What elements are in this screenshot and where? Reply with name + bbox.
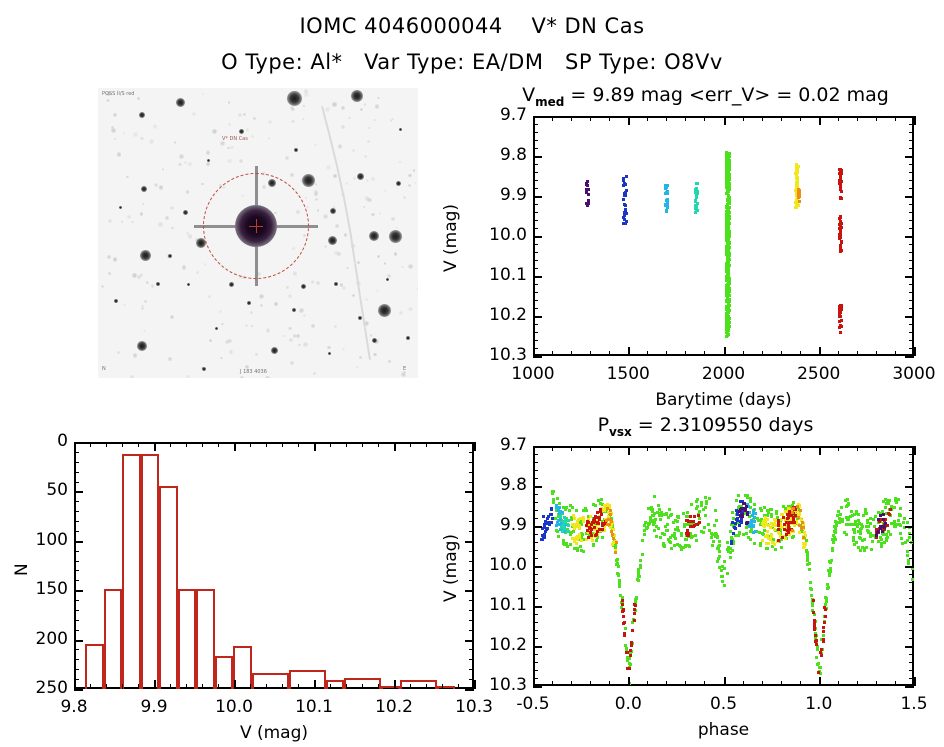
lightcurve-data-point bbox=[694, 200, 697, 203]
phaseplot-data-point bbox=[688, 545, 691, 548]
lightcurve-data-point bbox=[694, 191, 697, 194]
lightcurve-tick bbox=[666, 351, 667, 356]
histogram-tick bbox=[362, 442, 363, 447]
background-noise-speck bbox=[401, 372, 406, 377]
background-noise-speck bbox=[153, 124, 157, 128]
lightcurve-data-point bbox=[666, 206, 669, 209]
histogram-tick bbox=[106, 684, 107, 689]
phaseplot-data-point bbox=[573, 547, 576, 550]
background-noise-speck bbox=[364, 155, 367, 158]
phaseplot-data-point bbox=[615, 541, 618, 544]
background-noise-speck bbox=[314, 144, 316, 146]
finder-north-label: N bbox=[102, 366, 106, 372]
histogram-tick bbox=[469, 462, 474, 463]
phaseplot-data-point bbox=[693, 515, 696, 518]
phaseplot-data-point bbox=[606, 523, 609, 526]
histogram-tick bbox=[74, 491, 83, 493]
histogram-tick bbox=[410, 442, 411, 447]
phaseplot-data-point bbox=[771, 541, 774, 544]
background-noise-speck bbox=[268, 120, 272, 124]
phaseplot-tick bbox=[819, 677, 821, 686]
field-star bbox=[406, 336, 410, 340]
phaseplot-data-point bbox=[884, 506, 887, 509]
background-noise-speck bbox=[365, 196, 370, 201]
lightcurve-tick bbox=[905, 276, 914, 278]
lightcurve-data-point bbox=[585, 183, 588, 186]
background-noise-speck bbox=[201, 183, 204, 186]
background-noise-speck bbox=[356, 366, 358, 368]
phaseplot-data-point bbox=[559, 515, 562, 518]
background-noise-speck bbox=[379, 212, 382, 215]
background-noise-speck bbox=[188, 234, 192, 238]
lightcurve-tick bbox=[533, 212, 538, 213]
phaseplot-data-point bbox=[798, 524, 801, 527]
phaseplot-tick bbox=[905, 646, 914, 648]
background-noise-speck bbox=[377, 97, 380, 100]
lightcurve-tick bbox=[857, 116, 858, 121]
phaseplot-tick bbox=[905, 486, 914, 488]
phaseplot-data-point bbox=[559, 510, 562, 513]
background-noise-speck bbox=[417, 287, 418, 290]
phaseplot-tick bbox=[909, 590, 914, 591]
phaseplot-tick bbox=[533, 582, 538, 583]
phaseplot-data-point bbox=[866, 529, 869, 532]
phaseplot-data-point bbox=[793, 524, 796, 527]
phaseplot-data-point bbox=[881, 530, 884, 533]
histogram-tick bbox=[138, 442, 139, 447]
lightcurve-tick bbox=[909, 172, 914, 173]
background-noise-speck bbox=[388, 360, 391, 363]
phaseplot-data-point bbox=[579, 545, 582, 548]
background-noise-speck bbox=[127, 215, 131, 219]
phaseplot-data-point bbox=[829, 570, 832, 573]
lightcurve-data-point bbox=[695, 196, 698, 199]
lightcurve-tick bbox=[571, 116, 572, 121]
histogram-tick bbox=[74, 482, 79, 483]
phaseplot-data-point bbox=[566, 530, 569, 533]
phaseplot-data-point bbox=[641, 553, 644, 556]
phaseplot-data-point bbox=[799, 509, 802, 512]
histogram-tick bbox=[74, 630, 79, 631]
phaseplot-data-point bbox=[847, 503, 850, 506]
background-noise-speck bbox=[327, 346, 330, 349]
phaseplot-tick bbox=[895, 446, 896, 451]
phaseplot-tick bbox=[781, 446, 782, 451]
histogram-bar bbox=[289, 670, 326, 689]
phaseplot-data-point bbox=[860, 523, 863, 526]
phaseplot-data-point bbox=[730, 536, 733, 539]
phaseplot-data-point bbox=[796, 505, 799, 508]
phaseplot-data-point bbox=[555, 524, 558, 527]
phaseplot-data-point bbox=[723, 560, 726, 563]
background-noise-speck bbox=[303, 314, 306, 317]
histogram-bar bbox=[141, 454, 160, 689]
background-noise-speck bbox=[149, 139, 153, 143]
field-star bbox=[215, 327, 218, 330]
histogram-tick bbox=[394, 442, 396, 451]
phaseplot-tick bbox=[533, 558, 538, 559]
phaseplot-data-point bbox=[578, 533, 581, 536]
lightcurve-tick bbox=[895, 351, 896, 356]
histogram-tick bbox=[74, 669, 79, 670]
phaseplot-data-point bbox=[702, 531, 705, 534]
lightcurve-tick bbox=[905, 196, 914, 198]
phaseplot-data-point bbox=[765, 547, 768, 550]
background-noise-speck bbox=[344, 233, 348, 237]
phaseplot-data-point bbox=[717, 547, 720, 550]
field-star bbox=[156, 282, 160, 286]
phaseplot-data-point bbox=[595, 539, 598, 542]
phaseplot-data-point bbox=[659, 536, 662, 539]
phaseplot-data-point bbox=[633, 608, 636, 611]
background-noise-speck bbox=[186, 232, 189, 235]
histogram-y-tick-label: 50 bbox=[2, 480, 68, 500]
phaseplot-tick bbox=[909, 574, 914, 575]
phaseplot-data-point bbox=[749, 538, 752, 541]
phaseplot-data-point bbox=[877, 530, 880, 533]
phaseplot-data-point bbox=[602, 508, 605, 511]
phaseplot-data-point bbox=[625, 651, 628, 654]
histogram-tick bbox=[186, 442, 187, 447]
phaseplot-data-point bbox=[791, 529, 794, 532]
histogram-tick bbox=[469, 630, 474, 631]
background-noise-speck bbox=[196, 271, 199, 274]
background-noise-speck bbox=[260, 304, 263, 307]
lightcurve-x-axis-label: Barytime (days) bbox=[644, 390, 804, 410]
background-noise-speck bbox=[314, 190, 319, 195]
phaseplot-tick bbox=[571, 681, 572, 686]
phaseplot-data-point bbox=[680, 532, 683, 535]
field-star bbox=[399, 128, 402, 131]
phaseplot-data-point bbox=[764, 516, 767, 519]
phaseplot-data-point bbox=[907, 559, 910, 562]
phaseplot-data-point bbox=[761, 539, 764, 542]
field-star bbox=[239, 129, 244, 134]
histogram-tick bbox=[74, 590, 83, 592]
lightcurve-tick bbox=[552, 116, 553, 121]
histogram-tick bbox=[469, 669, 474, 670]
phaseplot-data-point bbox=[560, 526, 563, 529]
phaseplot-data-point bbox=[643, 533, 646, 536]
background-noise-speck bbox=[170, 315, 174, 319]
phaseplot-data-point bbox=[550, 508, 553, 511]
histogram-tick bbox=[170, 442, 171, 447]
phaseplot-data-point bbox=[801, 521, 804, 524]
phaseplot-title: Pvsx = 2.3109550 days bbox=[478, 414, 933, 439]
phaseplot-data-point bbox=[785, 521, 788, 524]
phaseplot-data-point bbox=[637, 571, 640, 574]
phaseplot-data-point bbox=[792, 507, 795, 510]
phaseplot-x-axis-label: phase bbox=[664, 720, 784, 740]
phaseplot-data-point bbox=[846, 518, 849, 521]
phaseplot-data-point bbox=[822, 640, 825, 643]
background-noise-speck bbox=[165, 216, 169, 220]
lightcurve-data-point bbox=[727, 189, 730, 192]
background-noise-speck bbox=[302, 118, 305, 121]
phaseplot-data-point bbox=[665, 512, 668, 515]
histogram-tick bbox=[170, 684, 171, 689]
phaseplot-data-point bbox=[578, 527, 581, 530]
phaseplot-tick bbox=[909, 550, 914, 551]
phaseplot-data-point bbox=[607, 518, 610, 521]
lightcurve-tick bbox=[724, 347, 726, 356]
phaseplot-data-point bbox=[653, 521, 656, 524]
phaseplot-data-point bbox=[857, 513, 860, 516]
phaseplot-data-point bbox=[843, 531, 846, 534]
phaseplot-data-point bbox=[623, 632, 626, 635]
background-noise-speck bbox=[228, 123, 231, 126]
lightcurve-tick bbox=[800, 351, 801, 356]
field-star bbox=[168, 254, 172, 258]
object-classification-line: O Type: Al* Var Type: EA/DM SP Type: O8V… bbox=[0, 50, 944, 74]
phaseplot-x-tick-label: 1.5 bbox=[869, 694, 944, 714]
phaseplot-data-point bbox=[865, 525, 868, 528]
background-noise-speck bbox=[123, 132, 126, 135]
background-noise-speck bbox=[141, 307, 144, 310]
phaseplot-data-point bbox=[697, 514, 700, 517]
background-noise-speck bbox=[352, 294, 355, 297]
phaseplot-data-point bbox=[897, 519, 900, 522]
background-noise-speck bbox=[290, 173, 294, 177]
phaseplot-data-point bbox=[819, 666, 822, 669]
phaseplot-data-point bbox=[698, 517, 701, 520]
phaseplot-data-point bbox=[856, 525, 859, 528]
phaseplot-data-point bbox=[798, 531, 801, 534]
phaseplot-data-point bbox=[630, 641, 633, 644]
lightcurve-tick bbox=[533, 180, 538, 181]
phaseplot-data-point bbox=[653, 529, 656, 532]
background-noise-speck bbox=[413, 169, 416, 172]
phaseplot-data-point bbox=[822, 626, 825, 629]
background-noise-speck bbox=[311, 324, 315, 328]
phaseplot-data-point bbox=[633, 619, 636, 622]
background-noise-speck bbox=[228, 101, 230, 103]
phaseplot-tick bbox=[909, 462, 914, 463]
phaseplot-data-point bbox=[886, 536, 889, 539]
lightcurve-data-point bbox=[622, 222, 625, 225]
phaseplot-data-point bbox=[850, 510, 853, 513]
field-star bbox=[141, 186, 147, 192]
phaseplot-data-point bbox=[781, 536, 784, 539]
lightcurve-tick bbox=[533, 156, 542, 158]
phaseplot-data-point bbox=[815, 656, 818, 659]
phaseplot-data-point bbox=[732, 532, 735, 535]
histogram-tick bbox=[298, 442, 299, 447]
field-star bbox=[396, 181, 401, 186]
lightcurve-data-point bbox=[727, 320, 730, 323]
field-star bbox=[207, 159, 210, 162]
phaseplot-data-point bbox=[877, 518, 880, 521]
phaseplot-data-point bbox=[572, 530, 575, 533]
lightcurve-data-point bbox=[838, 326, 841, 329]
phaseplot-data-point bbox=[902, 521, 905, 524]
phaseplot-data-point bbox=[569, 543, 572, 546]
field-star bbox=[378, 304, 391, 317]
histogram-tick bbox=[202, 442, 203, 447]
lightcurve-data-point bbox=[725, 315, 728, 318]
phaseplot-tick bbox=[533, 470, 538, 471]
histogram-tick bbox=[378, 684, 379, 689]
phaseplot-data-point bbox=[816, 663, 819, 666]
phaseplot-data-point bbox=[576, 524, 579, 527]
phaseplot-tick bbox=[909, 614, 914, 615]
background-noise-speck bbox=[341, 125, 345, 129]
background-noise-speck bbox=[290, 361, 294, 365]
phaseplot-data-point bbox=[743, 502, 746, 505]
plate-defect-streak bbox=[364, 328, 371, 360]
background-noise-speck bbox=[178, 163, 182, 167]
phaseplot-data-point bbox=[700, 504, 703, 507]
phaseplot-data-point bbox=[780, 546, 783, 549]
background-noise-speck bbox=[142, 203, 144, 205]
phaseplot-data-point bbox=[744, 509, 747, 512]
phaseplot-data-point bbox=[879, 536, 882, 539]
phaseplot-data-point bbox=[777, 519, 780, 522]
phaseplot-data-point bbox=[866, 521, 869, 524]
phaseplot-data-point bbox=[823, 606, 826, 609]
phaseplot-data-point bbox=[857, 530, 860, 533]
lightcurve-data-point bbox=[694, 204, 697, 207]
phaseplot-tick bbox=[781, 681, 782, 686]
phaseplot-data-point bbox=[674, 537, 677, 540]
lightcurve-data-point bbox=[666, 198, 669, 201]
phaseplot-tick bbox=[533, 638, 538, 639]
phaseplot-data-point bbox=[682, 512, 685, 515]
phaseplot-tick bbox=[533, 446, 542, 448]
phaseplot-x-tick-label: -0.5 bbox=[488, 694, 578, 714]
background-noise-speck bbox=[274, 302, 278, 306]
phaseplot-data-point bbox=[770, 533, 773, 536]
phaseplot-data-point bbox=[883, 541, 886, 544]
lightcurve-data-point bbox=[725, 206, 728, 209]
background-noise-speck bbox=[117, 152, 121, 156]
phaseplot-data-point bbox=[822, 630, 825, 633]
field-star bbox=[114, 299, 118, 303]
lightcurve-tick bbox=[533, 228, 538, 229]
phaseplot-data-point bbox=[730, 540, 733, 543]
phaseplot-data-point bbox=[806, 557, 809, 560]
field-star bbox=[202, 367, 206, 371]
background-noise-speck bbox=[299, 308, 304, 313]
phaseplot-data-point bbox=[589, 531, 592, 534]
phaseplot-data-point bbox=[650, 508, 653, 511]
histogram-tick bbox=[74, 442, 83, 444]
background-noise-speck bbox=[357, 261, 360, 264]
background-noise-speck bbox=[202, 93, 204, 95]
lightcurve-tick bbox=[533, 132, 538, 133]
lightcurve-tick bbox=[724, 116, 726, 125]
histogram-tick bbox=[74, 679, 79, 680]
background-noise-speck bbox=[303, 105, 305, 107]
histogram-tick bbox=[346, 684, 347, 689]
lightcurve-tick bbox=[909, 212, 914, 213]
phaseplot-tick bbox=[905, 446, 914, 448]
background-noise-speck bbox=[158, 222, 163, 227]
phaseplot-data-point bbox=[655, 525, 658, 528]
lightcurve-tick bbox=[800, 116, 801, 121]
phaseplot-data-point bbox=[621, 603, 624, 606]
phaseplot-data-point bbox=[766, 530, 769, 533]
phaseplot-data-point bbox=[806, 551, 809, 554]
lightcurve-data-point bbox=[725, 182, 728, 185]
finder-object-label: V* DN Cas bbox=[222, 136, 248, 142]
phaseplot-data-point bbox=[695, 500, 698, 503]
histogram-tick bbox=[202, 684, 203, 689]
phaseplot-data-point bbox=[637, 579, 640, 582]
lightcurve-y-axis-label: V (mag) bbox=[441, 204, 461, 272]
phaseplot-data-point bbox=[567, 524, 570, 527]
lightcurve-title-subscript: med bbox=[535, 95, 564, 109]
phaseplot-data-point bbox=[820, 654, 823, 657]
lightcurve-tick bbox=[533, 116, 542, 118]
phaseplot-data-point bbox=[606, 503, 609, 506]
background-noise-speck bbox=[144, 300, 148, 304]
background-noise-speck bbox=[143, 330, 145, 332]
phaseplot-data-point bbox=[600, 498, 603, 501]
field-star bbox=[386, 278, 389, 281]
phaseplot-tick bbox=[552, 681, 553, 686]
finder-coord-label: J 183 4036 bbox=[240, 369, 267, 375]
background-noise-speck bbox=[296, 334, 300, 338]
phaseplot-data-point bbox=[713, 524, 716, 527]
background-noise-speck bbox=[208, 295, 211, 298]
phaseplot-data-point bbox=[753, 516, 756, 519]
lightcurve-data-point bbox=[585, 202, 588, 205]
phaseplot-data-point bbox=[714, 532, 717, 535]
phaseplot-data-point bbox=[670, 547, 673, 550]
phaseplot-tick bbox=[552, 446, 553, 451]
background-noise-speck bbox=[108, 272, 111, 275]
phaseplot-data-point bbox=[749, 497, 752, 500]
histogram-tick bbox=[298, 684, 299, 689]
lightcurve-data-point bbox=[622, 198, 625, 201]
phaseplot-data-point bbox=[814, 634, 817, 637]
plate-defect-streak bbox=[343, 198, 351, 230]
lightcurve-tick bbox=[533, 316, 542, 318]
background-noise-speck bbox=[408, 174, 412, 178]
lightcurve-tick bbox=[533, 268, 538, 269]
lightcurve-tick bbox=[909, 268, 914, 269]
phaseplot-tick bbox=[533, 494, 538, 495]
phaseplot-data-point bbox=[618, 580, 621, 583]
lightcurve-data-point bbox=[726, 170, 729, 173]
phaseplot-data-point bbox=[816, 648, 819, 651]
lightcurve-tick bbox=[533, 332, 538, 333]
phaseplot-data-point bbox=[601, 536, 604, 539]
phaseplot-data-point bbox=[617, 565, 620, 568]
field-star bbox=[369, 231, 379, 241]
background-noise-speck bbox=[342, 286, 346, 290]
lightcurve-data-layer bbox=[533, 116, 914, 356]
background-noise-speck bbox=[186, 190, 190, 194]
lightcurve-data-point bbox=[796, 181, 799, 184]
histogram-bar bbox=[233, 646, 252, 689]
background-noise-speck bbox=[293, 271, 297, 275]
histogram-bar bbox=[252, 673, 289, 689]
phaseplot-data-point bbox=[810, 594, 813, 597]
phaseplot-data-point bbox=[565, 542, 568, 545]
phaseplot-data-point bbox=[665, 529, 668, 532]
phaseplot-tick bbox=[905, 526, 914, 528]
phaseplot-x-tick-label: 1.0 bbox=[774, 694, 864, 714]
lightcurve-tick bbox=[533, 188, 538, 189]
background-noise-speck bbox=[311, 280, 314, 283]
phaseplot-data-point bbox=[735, 499, 738, 502]
phaseplot-data-point bbox=[806, 554, 809, 557]
background-noise-speck bbox=[384, 189, 387, 192]
phaseplot-data-point bbox=[911, 578, 914, 581]
lightcurve-tick bbox=[781, 351, 782, 356]
